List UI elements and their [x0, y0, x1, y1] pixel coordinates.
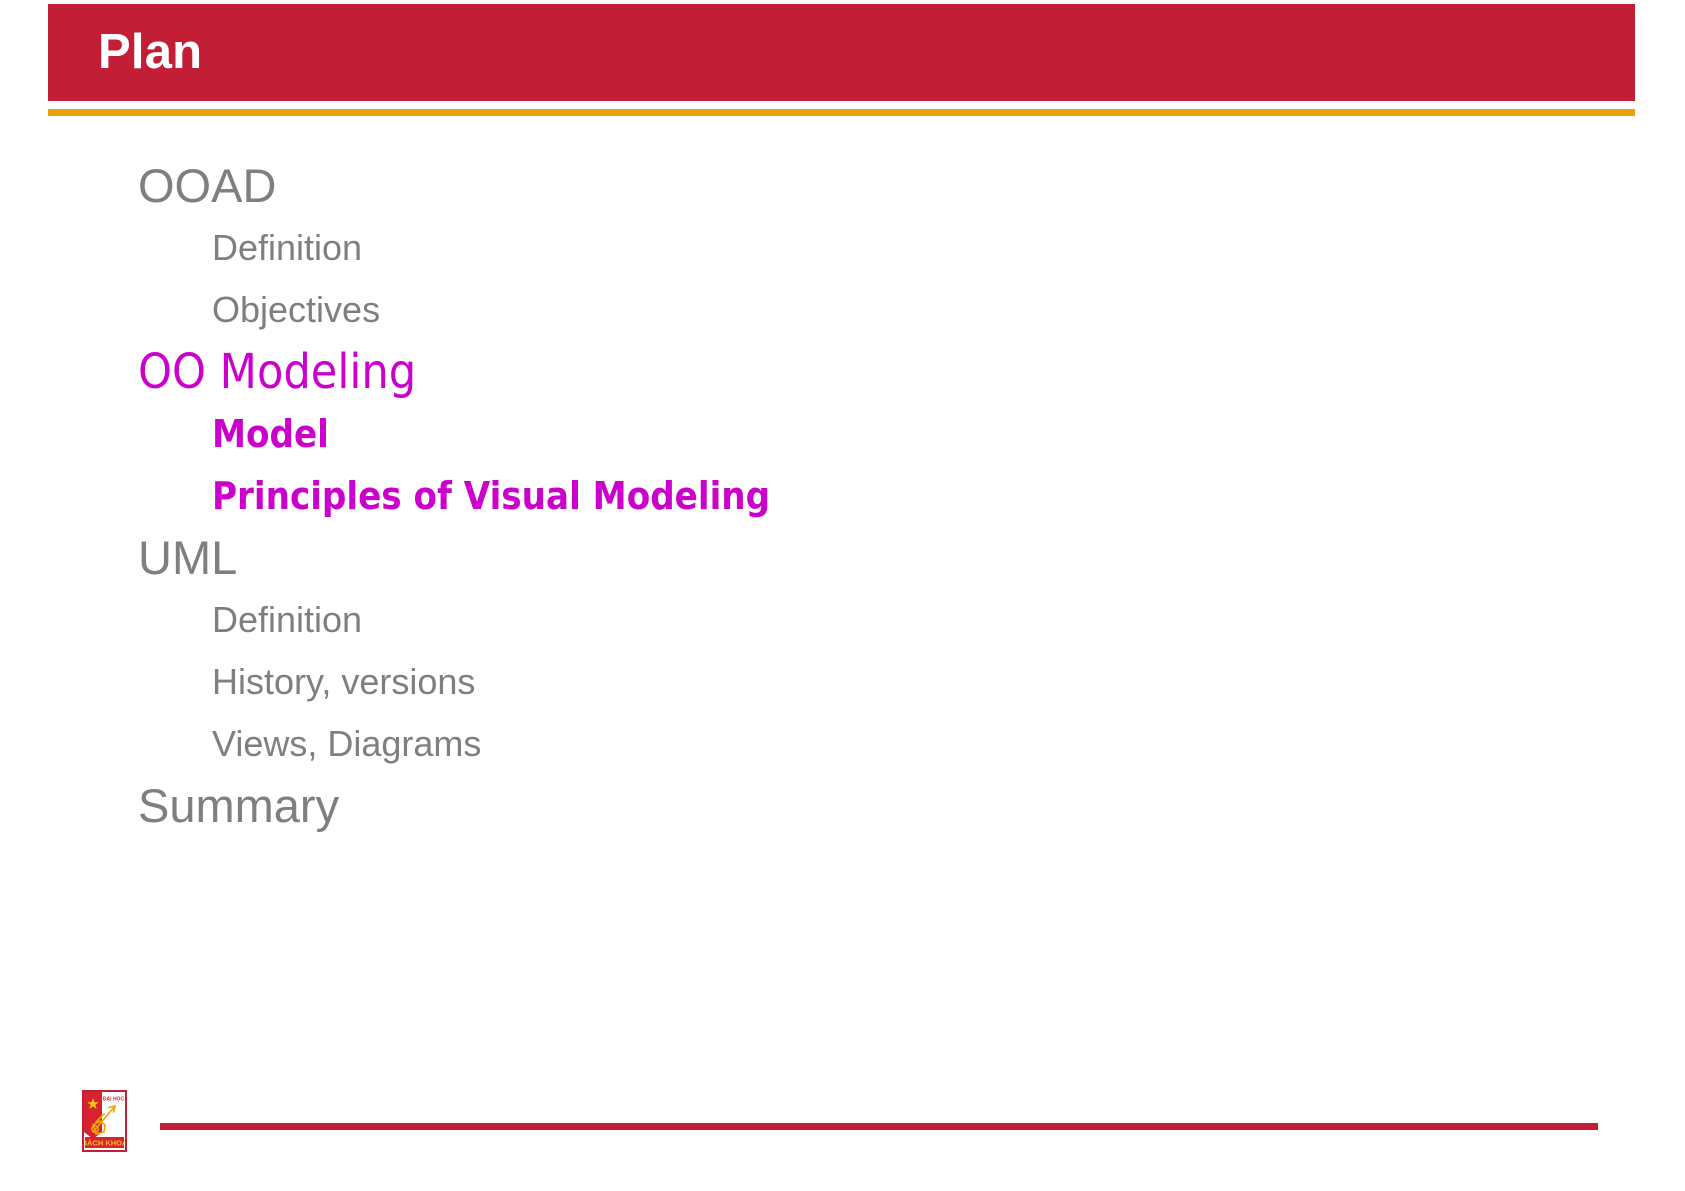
outline-item-level2: History, versions [138, 651, 1538, 713]
outline-item-level1: Summary [138, 775, 1538, 837]
svg-text:BÁCH KHOA: BÁCH KHOA [84, 1139, 125, 1148]
outline-item-level1: OOAD [138, 155, 1538, 217]
outline-item-level2: Definition [138, 589, 1538, 651]
outline-item-level1: OO Modeling [138, 341, 1538, 403]
outline-list: OOADDefinitionObjectivesOO ModelingModel… [138, 155, 1538, 837]
slide-title-banner: Plan [48, 4, 1635, 101]
outline-item-level1: UML [138, 527, 1538, 589]
outline-item-level2: Model [138, 403, 1538, 465]
hust-bach-khoa-logo: ĐẠI HỌC BÁCH KHOA [82, 1090, 127, 1152]
outline-item-level2: Objectives [138, 279, 1538, 341]
outline-item-level2: Definition [138, 217, 1538, 279]
outline-item-level2: Principles of Visual Modeling [138, 465, 1538, 527]
page-title: Plan [98, 28, 202, 77]
footer-rule [160, 1123, 1598, 1130]
outline-item-level2: Views, Diagrams [138, 713, 1538, 775]
svg-text:ĐẠI HỌC: ĐẠI HỌC [103, 1097, 125, 1103]
logo-graphic: ĐẠI HỌC BÁCH KHOA [84, 1092, 125, 1150]
title-accent-rule [48, 109, 1635, 116]
